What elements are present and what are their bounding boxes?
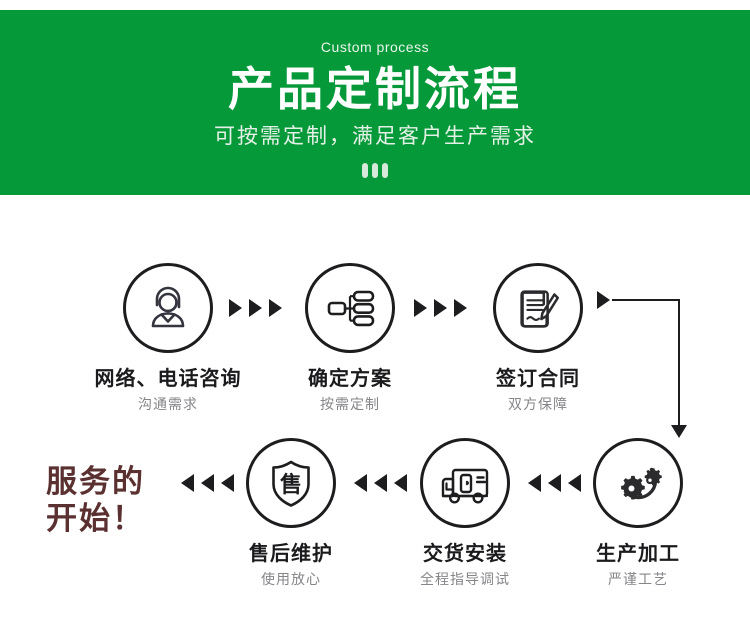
step-6-subtitle: 使用放心 [205,572,377,587]
step-2-subtitle: 按需定制 [264,397,436,412]
header-subtitle: 可按需定制，满足客户生产需求 [0,126,750,147]
connector-vertical-line [678,299,680,427]
flowchart-icon [322,280,378,336]
header-banner: Custom process 产品定制流程 可按需定制，满足客户生产需求 [0,10,750,195]
step-4-production-processing[interactable]: 生产加工 严谨工艺 [552,438,724,587]
custom-process-infographic: Custom process 产品定制流程 可按需定制，满足客户生产需求 [0,0,750,634]
pip-3 [382,163,388,178]
pip-2 [372,163,378,178]
step-6-title: 售后维护 [205,543,377,565]
step-1-subtitle: 沟通需求 [82,397,254,412]
header-eyebrow: Custom process [0,40,750,54]
header-decoration-pips [0,163,750,178]
step-6-after-sales-maintenance[interactable]: 售 售后维护 使用放心 [205,438,377,587]
step-5-subtitle: 全程指导调试 [379,572,551,587]
connector-horizontal-line [612,299,680,301]
delivery-truck-icon [437,455,493,511]
chevron-right-icon [434,299,447,317]
shield-after-sales-icon: 售 [265,457,317,509]
page-title: 产品定制流程 [0,65,750,114]
chevron-left-icon [394,474,407,492]
gears-icon [610,455,666,511]
headset-person-icon [140,280,196,336]
step-4-title: 生产加工 [552,543,724,565]
chevron-right-icon [249,299,262,317]
chevron-right-icon [229,299,242,317]
service-start-badge: 服务的 开始！ [46,464,196,537]
step-5-delivery-installation[interactable]: 交货安装 全程指导调试 [379,438,551,587]
step-1-circle [123,263,213,353]
step-1-title: 网络、电话咨询 [82,368,254,390]
step-5-circle [420,438,510,528]
chevron-left-icon [201,474,214,492]
step-5-title: 交货安装 [379,543,551,565]
pip-1 [362,163,368,178]
shield-glyph: 售 [265,457,317,509]
chevron-down-icon [671,425,687,438]
step-4-circle [593,438,683,528]
contract-pen-icon [511,281,565,335]
step-4-subtitle: 严谨工艺 [552,572,724,587]
chevron-left-icon [568,474,581,492]
chevron-left-icon [221,474,234,492]
chevron-right-icon [597,291,610,309]
step-2-confirm-plan[interactable]: 确定方案 按需定制 [264,263,436,412]
step-2-circle [305,263,395,353]
service-start-line2: 开始！ [46,501,196,538]
service-start-line1: 服务的 [46,464,196,501]
connector-step3-to-step4 [597,291,693,441]
step-3-circle [493,263,583,353]
step-6-circle: 售 [246,438,336,528]
step-1-network-phone-consult[interactable]: 网络、电话咨询 沟通需求 [82,263,254,412]
step-2-title: 确定方案 [264,368,436,390]
chevron-right-icon [414,299,427,317]
process-flow: 网络、电话咨询 沟通需求 确定方案 按需 [0,195,750,634]
